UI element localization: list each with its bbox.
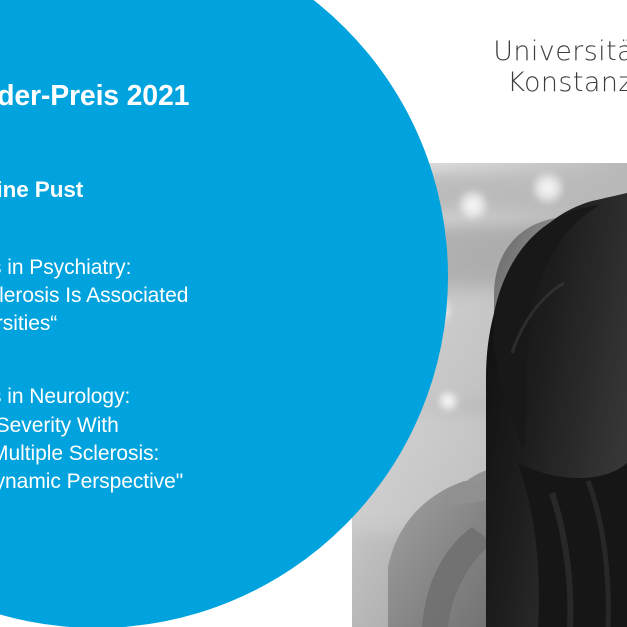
publication-entry-2: in Frontiers in Neurology: of Fatigue Se…	[0, 383, 397, 496]
university-logo-line-2: Konstanz	[493, 67, 627, 98]
university-logo-line-1: Universität	[493, 36, 627, 67]
publication-entry-1: in Frontiers in Psychiatry: Multiple Scl…	[0, 254, 397, 339]
slide-text-stack: Schmieder-Preis 2021 Dr. Albertine Pust …	[0, 80, 397, 496]
laureate-name: Dr. Albertine Pust	[0, 176, 397, 203]
award-title: Schmieder-Preis 2021	[0, 80, 397, 114]
slide-canvas: Universität Konstanz Schmieder-Preis 202…	[0, 0, 627, 627]
university-logo: Universität Konstanz	[493, 36, 627, 99]
